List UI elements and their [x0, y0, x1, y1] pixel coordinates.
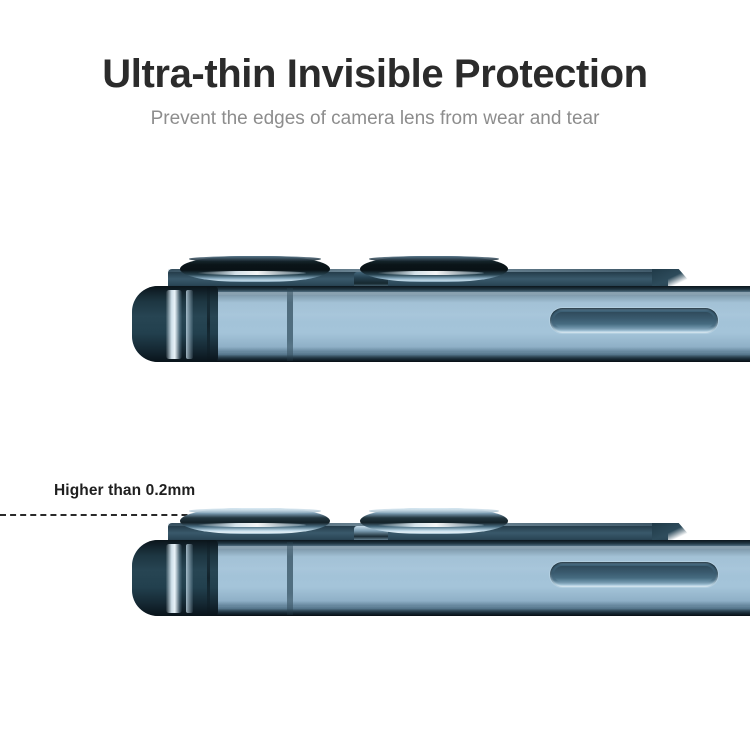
antenna-seam: [287, 288, 293, 361]
lens-ring-top-1: [189, 256, 321, 262]
frame-corner-highlight-secondary: [186, 290, 193, 359]
camera-lens-ring-1: [180, 256, 330, 282]
lens-ring-top-2: [369, 256, 499, 262]
frame-corner-seam: [207, 287, 210, 361]
product-marketing-banner: Ultra-thin Invisible Protection Prevent …: [0, 0, 750, 750]
camera-lens-protector-2: [360, 508, 508, 534]
frame-corner-highlight: [166, 290, 182, 359]
lens-protector-top-2: [369, 508, 499, 514]
volume-button-face: [554, 566, 714, 582]
page-title: Ultra-thin Invisible Protection: [0, 52, 750, 96]
volume-button-face: [554, 312, 714, 328]
antenna-seam: [287, 542, 293, 615]
camera-lens-protector-1: [180, 508, 330, 534]
protector-height-label: Higher than 0.2mm: [54, 482, 195, 500]
phone-protected: [132, 506, 750, 636]
volume-button: [550, 308, 718, 333]
phone-unprotected: [132, 252, 750, 382]
lens-protector-top-1: [189, 508, 321, 514]
frame-corner-highlight-secondary: [186, 544, 193, 613]
camera-lens-ring-2: [360, 256, 508, 282]
volume-button: [550, 562, 718, 587]
page-subtitle: Prevent the edges of camera lens from we…: [0, 108, 750, 131]
frame-corner-highlight: [166, 544, 182, 613]
frame-corner-seam: [207, 541, 210, 615]
